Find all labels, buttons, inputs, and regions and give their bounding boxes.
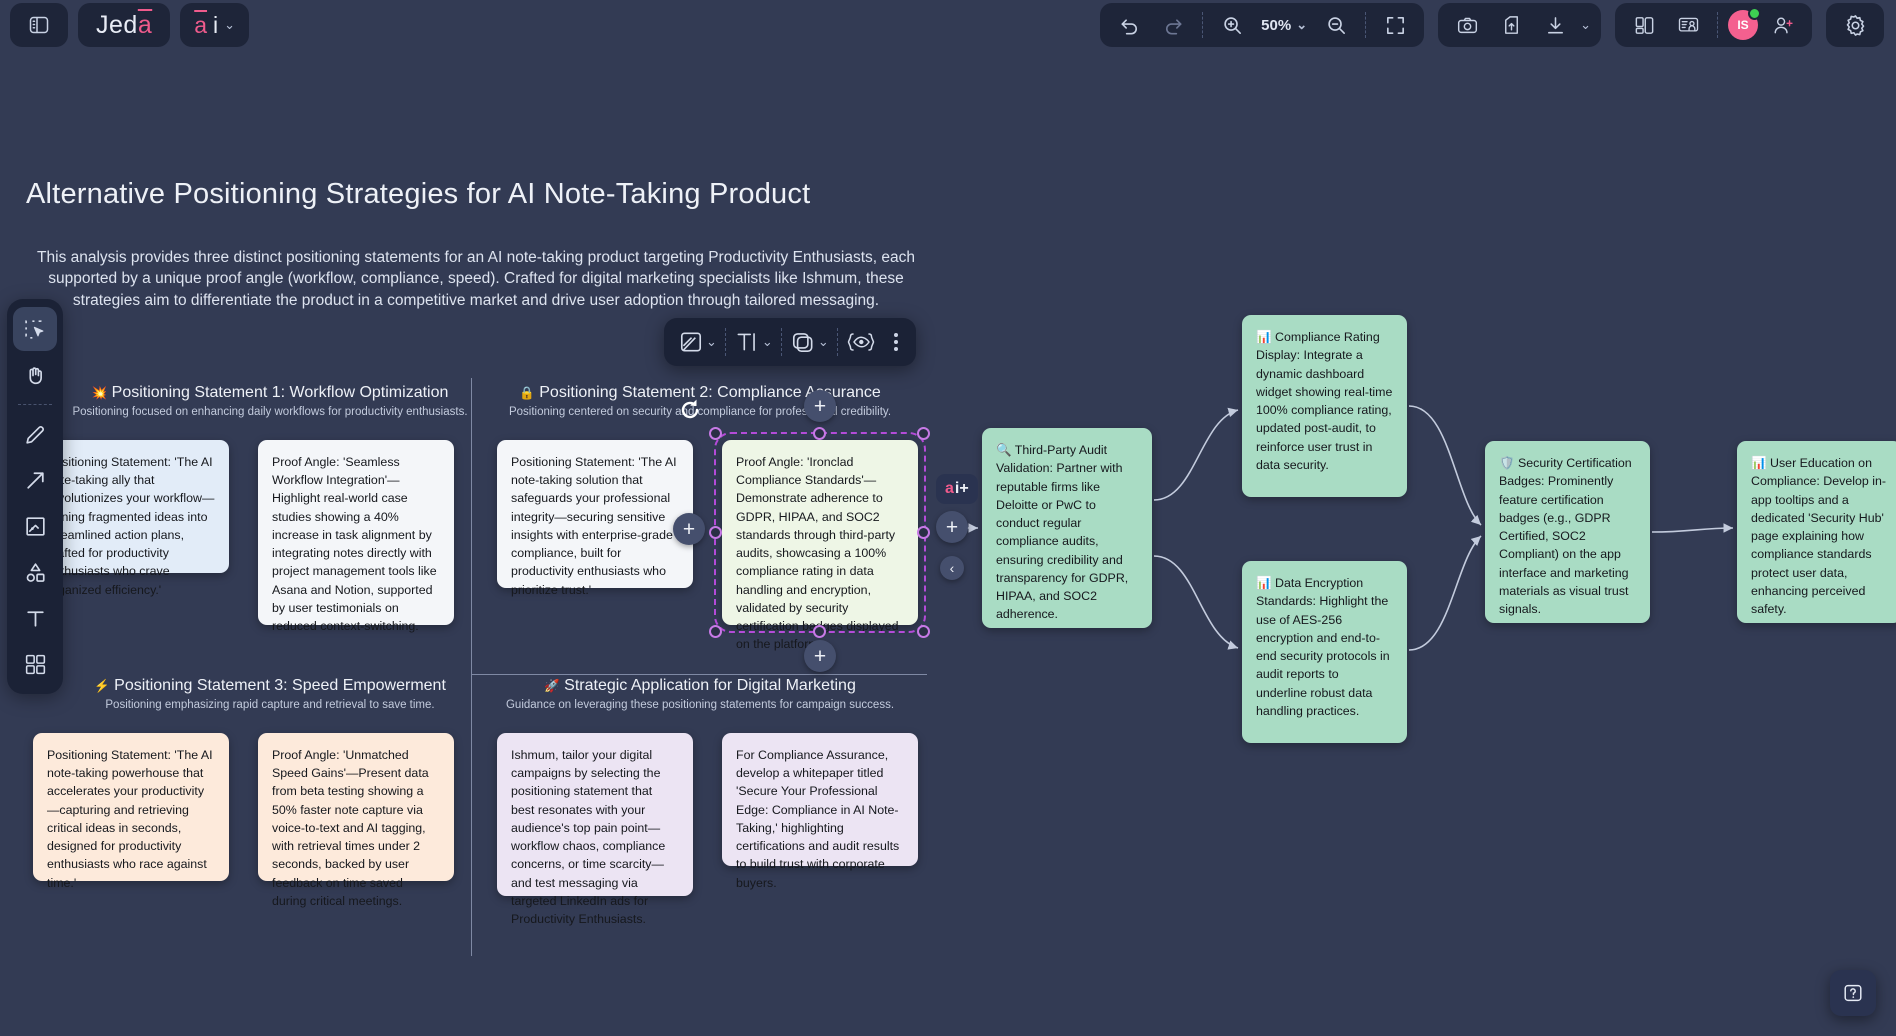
sidebar-toggle-group[interactable] — [10, 3, 68, 47]
zoom-level-value: 50% — [1261, 17, 1291, 34]
add-card-bottom-button[interactable]: + — [804, 640, 836, 672]
page-subtitle: This analysis provides three distinct po… — [26, 247, 926, 311]
chevron-down-icon-zoom: ⌄ — [1296, 17, 1307, 33]
chevron-down-icon-fill: ⌄ — [706, 334, 717, 350]
section-icon-1: 💥 — [92, 386, 108, 400]
presentation-icon[interactable] — [1669, 6, 1707, 44]
card-user-education[interactable]: 📊 User Education on Compliance: Develop … — [1737, 441, 1896, 623]
magnifier-icon: 🔍 — [996, 443, 1012, 457]
image-tool[interactable] — [13, 504, 57, 548]
section-subtitle-1: Positioning focused on enhancing daily w… — [60, 406, 480, 418]
connector-encryption-to-badges — [1409, 536, 1481, 650]
text-tool[interactable] — [13, 596, 57, 640]
zoom-out-icon[interactable] — [1317, 6, 1355, 44]
ai-button-i-plus: i+ — [955, 480, 969, 498]
card-s3-proof[interactable]: Proof Angle: 'Unmatched Speed Gains'—Pre… — [258, 733, 454, 881]
history-zoom-group[interactable]: 50% ⌄ — [1100, 3, 1424, 47]
card-s4-right[interactable]: For Compliance Assurance, develop a whit… — [722, 733, 918, 866]
resize-handle-tl[interactable] — [709, 427, 722, 440]
section-header-3: ⚡ Positioning Statement 3: Speed Empower… — [60, 677, 480, 711]
section-header-1: 💥 Positioning Statement 1: Workflow Opti… — [60, 384, 480, 418]
connector-rating-to-badges — [1409, 406, 1481, 525]
chevron-down-icon-ai: ⌄ — [224, 17, 235, 33]
section-title-1: Positioning Statement 1: Workflow Optimi… — [112, 384, 449, 401]
ai-generate-button[interactable]: ai+ — [936, 474, 978, 504]
resize-handle-bc[interactable] — [813, 625, 826, 638]
section-subtitle-3: Positioning emphasizing rapid capture an… — [60, 699, 480, 711]
rail-divider — [18, 404, 52, 405]
section-subtitle-4: Guidance on leveraging these positioning… — [490, 699, 910, 711]
resize-handle-tr[interactable] — [917, 427, 930, 440]
shapes-tool[interactable] — [13, 550, 57, 594]
toolbar-divider-1 — [725, 328, 726, 356]
tool-rail[interactable] — [7, 299, 63, 694]
ai-menu-button[interactable]: ai ⌄ — [180, 3, 249, 47]
resize-handle-ml[interactable] — [709, 526, 722, 539]
logo-text-a: a — [138, 11, 152, 40]
ai-menu-a: a — [194, 12, 207, 39]
resize-handle-br[interactable] — [917, 625, 930, 638]
connector-audit-to-encryption — [1154, 556, 1238, 648]
quadrant-divider-horizontal — [471, 674, 927, 675]
whiteboard-canvas[interactable]: Alternative Positioning Strategies for A… — [0, 0, 1896, 1036]
zoom-level-dropdown[interactable]: 50% ⌄ — [1257, 17, 1311, 34]
select-tool[interactable] — [13, 307, 57, 351]
top-bar: Jeda ai ⌄ — [0, 0, 1896, 50]
download-icon[interactable] — [1536, 6, 1574, 44]
toolbar-divider-2 — [781, 328, 782, 356]
app-logo[interactable]: Jeda — [78, 3, 170, 47]
resize-handle-bl[interactable] — [709, 625, 722, 638]
online-status-dot — [1748, 7, 1761, 20]
topbar-divider-2 — [1365, 12, 1366, 38]
topbar-divider-3 — [1717, 12, 1718, 38]
collab-group[interactable]: IS — [1615, 3, 1812, 47]
card-s2-proof[interactable]: Proof Angle: 'Ironclad Compliance Standa… — [722, 440, 918, 625]
pen-tool[interactable] — [13, 412, 57, 456]
section-icon-2: 🔒 — [519, 386, 535, 400]
page-title: Alternative Positioning Strategies for A… — [26, 178, 906, 211]
card-user-education-text: User Education on Compliance: Develop in… — [1751, 456, 1886, 616]
text-style-button[interactable]: ⌄ — [728, 329, 779, 355]
camera-icon[interactable] — [1448, 6, 1486, 44]
chevron-down-icon-shape: ⌄ — [818, 334, 829, 350]
card-security-badges-text: Security Certification Badges: Prominent… — [1499, 456, 1632, 616]
add-card-right-button[interactable]: + — [936, 511, 968, 543]
section-header-2: 🔒 Positioning Statement 2: Compliance As… — [490, 384, 910, 418]
undo-icon[interactable] — [1110, 6, 1148, 44]
card-s1-proof[interactable]: Proof Angle: 'Seamless Workflow Integrat… — [258, 440, 454, 625]
card-s3-statement[interactable]: Positioning Statement: 'The AI note-taki… — [33, 733, 229, 881]
chevron-down-icon-text: ⌄ — [762, 334, 773, 350]
help-button[interactable] — [1830, 970, 1876, 1016]
section-title-4: Strategic Application for Digital Market… — [564, 677, 856, 694]
fit-screen-icon[interactable] — [1376, 6, 1414, 44]
card-data-encryption-text: Data Encryption Standards: Highlight the… — [1256, 576, 1390, 718]
logo-text-jed: Jed — [96, 11, 138, 40]
avatar-initials: IS — [1737, 18, 1748, 32]
panel-left-icon[interactable] — [20, 6, 58, 44]
more-options-button[interactable] — [884, 333, 908, 351]
shape-style-button[interactable]: ⌄ — [784, 329, 835, 355]
section-subtitle-2: Positioning centered on security and com… — [490, 406, 910, 418]
format-toolbar[interactable]: ⌄ ⌄ ⌄ — [664, 318, 916, 366]
layout-panels-icon[interactable] — [1625, 6, 1663, 44]
resize-handle-tc[interactable] — [813, 427, 826, 440]
gear-icon[interactable] — [1836, 6, 1874, 44]
connector-audit-to-rating — [1154, 410, 1238, 500]
settings-group[interactable] — [1826, 3, 1884, 47]
add-card-top-button[interactable]: + — [804, 390, 836, 422]
bar-chart-icon-3: 📊 — [1751, 456, 1767, 470]
capture-share-group[interactable]: ⌄ — [1438, 3, 1601, 47]
add-user-icon[interactable] — [1764, 6, 1802, 44]
topbar-divider-1 — [1202, 12, 1203, 38]
shield-icon: 🛡️ — [1499, 456, 1515, 470]
section-icon-3: ⚡ — [94, 679, 110, 693]
card-security-badges[interactable]: 🛡️ Security Certification Badges: Promin… — [1485, 441, 1650, 623]
card-compliance-rating[interactable]: 📊 Compliance Rating Display: Integrate a… — [1242, 315, 1407, 497]
arrow-tool[interactable] — [13, 458, 57, 502]
ai-button-a: a — [945, 480, 954, 498]
bar-chart-icon-2: 📊 — [1256, 576, 1272, 590]
section-title-3: Positioning Statement 3: Speed Empowerme… — [114, 677, 446, 694]
card-audit-validation[interactable]: 🔍 Third-Party Audit Validation: Partner … — [982, 428, 1152, 628]
chevron-down-icon-download[interactable]: ⌄ — [1580, 17, 1591, 33]
ai-menu-i: i — [213, 12, 218, 39]
ai-eye-button[interactable] — [840, 329, 882, 355]
section-icon-4: 🚀 — [544, 679, 560, 693]
card-compliance-rating-text: Compliance Rating Display: Integrate a d… — [1256, 330, 1392, 472]
add-card-s1-proof-button[interactable]: + — [673, 513, 705, 545]
card-s2-statement[interactable]: Positioning Statement: 'The AI note-taki… — [497, 440, 693, 588]
card-audit-validation-text: Third-Party Audit Validation: Partner wi… — [996, 443, 1128, 621]
card-s4-left[interactable]: Ishmum, tailor your digital campaigns by… — [497, 733, 693, 896]
redo-icon[interactable] — [1154, 6, 1192, 44]
widgets-tool[interactable] — [13, 642, 57, 686]
upload-file-icon[interactable] — [1492, 6, 1530, 44]
resize-handle-mr[interactable] — [917, 526, 930, 539]
zoom-in-icon[interactable] — [1213, 6, 1251, 44]
section-header-4: 🚀 Strategic Application for Digital Mark… — [490, 677, 910, 711]
fill-style-button[interactable]: ⌄ — [672, 329, 723, 355]
toolbar-divider-3 — [837, 328, 838, 356]
card-data-encryption[interactable]: 📊 Data Encryption Standards: Highlight t… — [1242, 561, 1407, 743]
connector-badges-to-education — [1652, 528, 1733, 532]
collapse-button[interactable]: ‹ — [940, 556, 964, 580]
bar-chart-icon-1: 📊 — [1256, 330, 1272, 344]
avatar[interactable]: IS — [1728, 10, 1758, 40]
hand-tool[interactable] — [13, 353, 57, 397]
quadrant-divider-vertical — [471, 378, 472, 956]
